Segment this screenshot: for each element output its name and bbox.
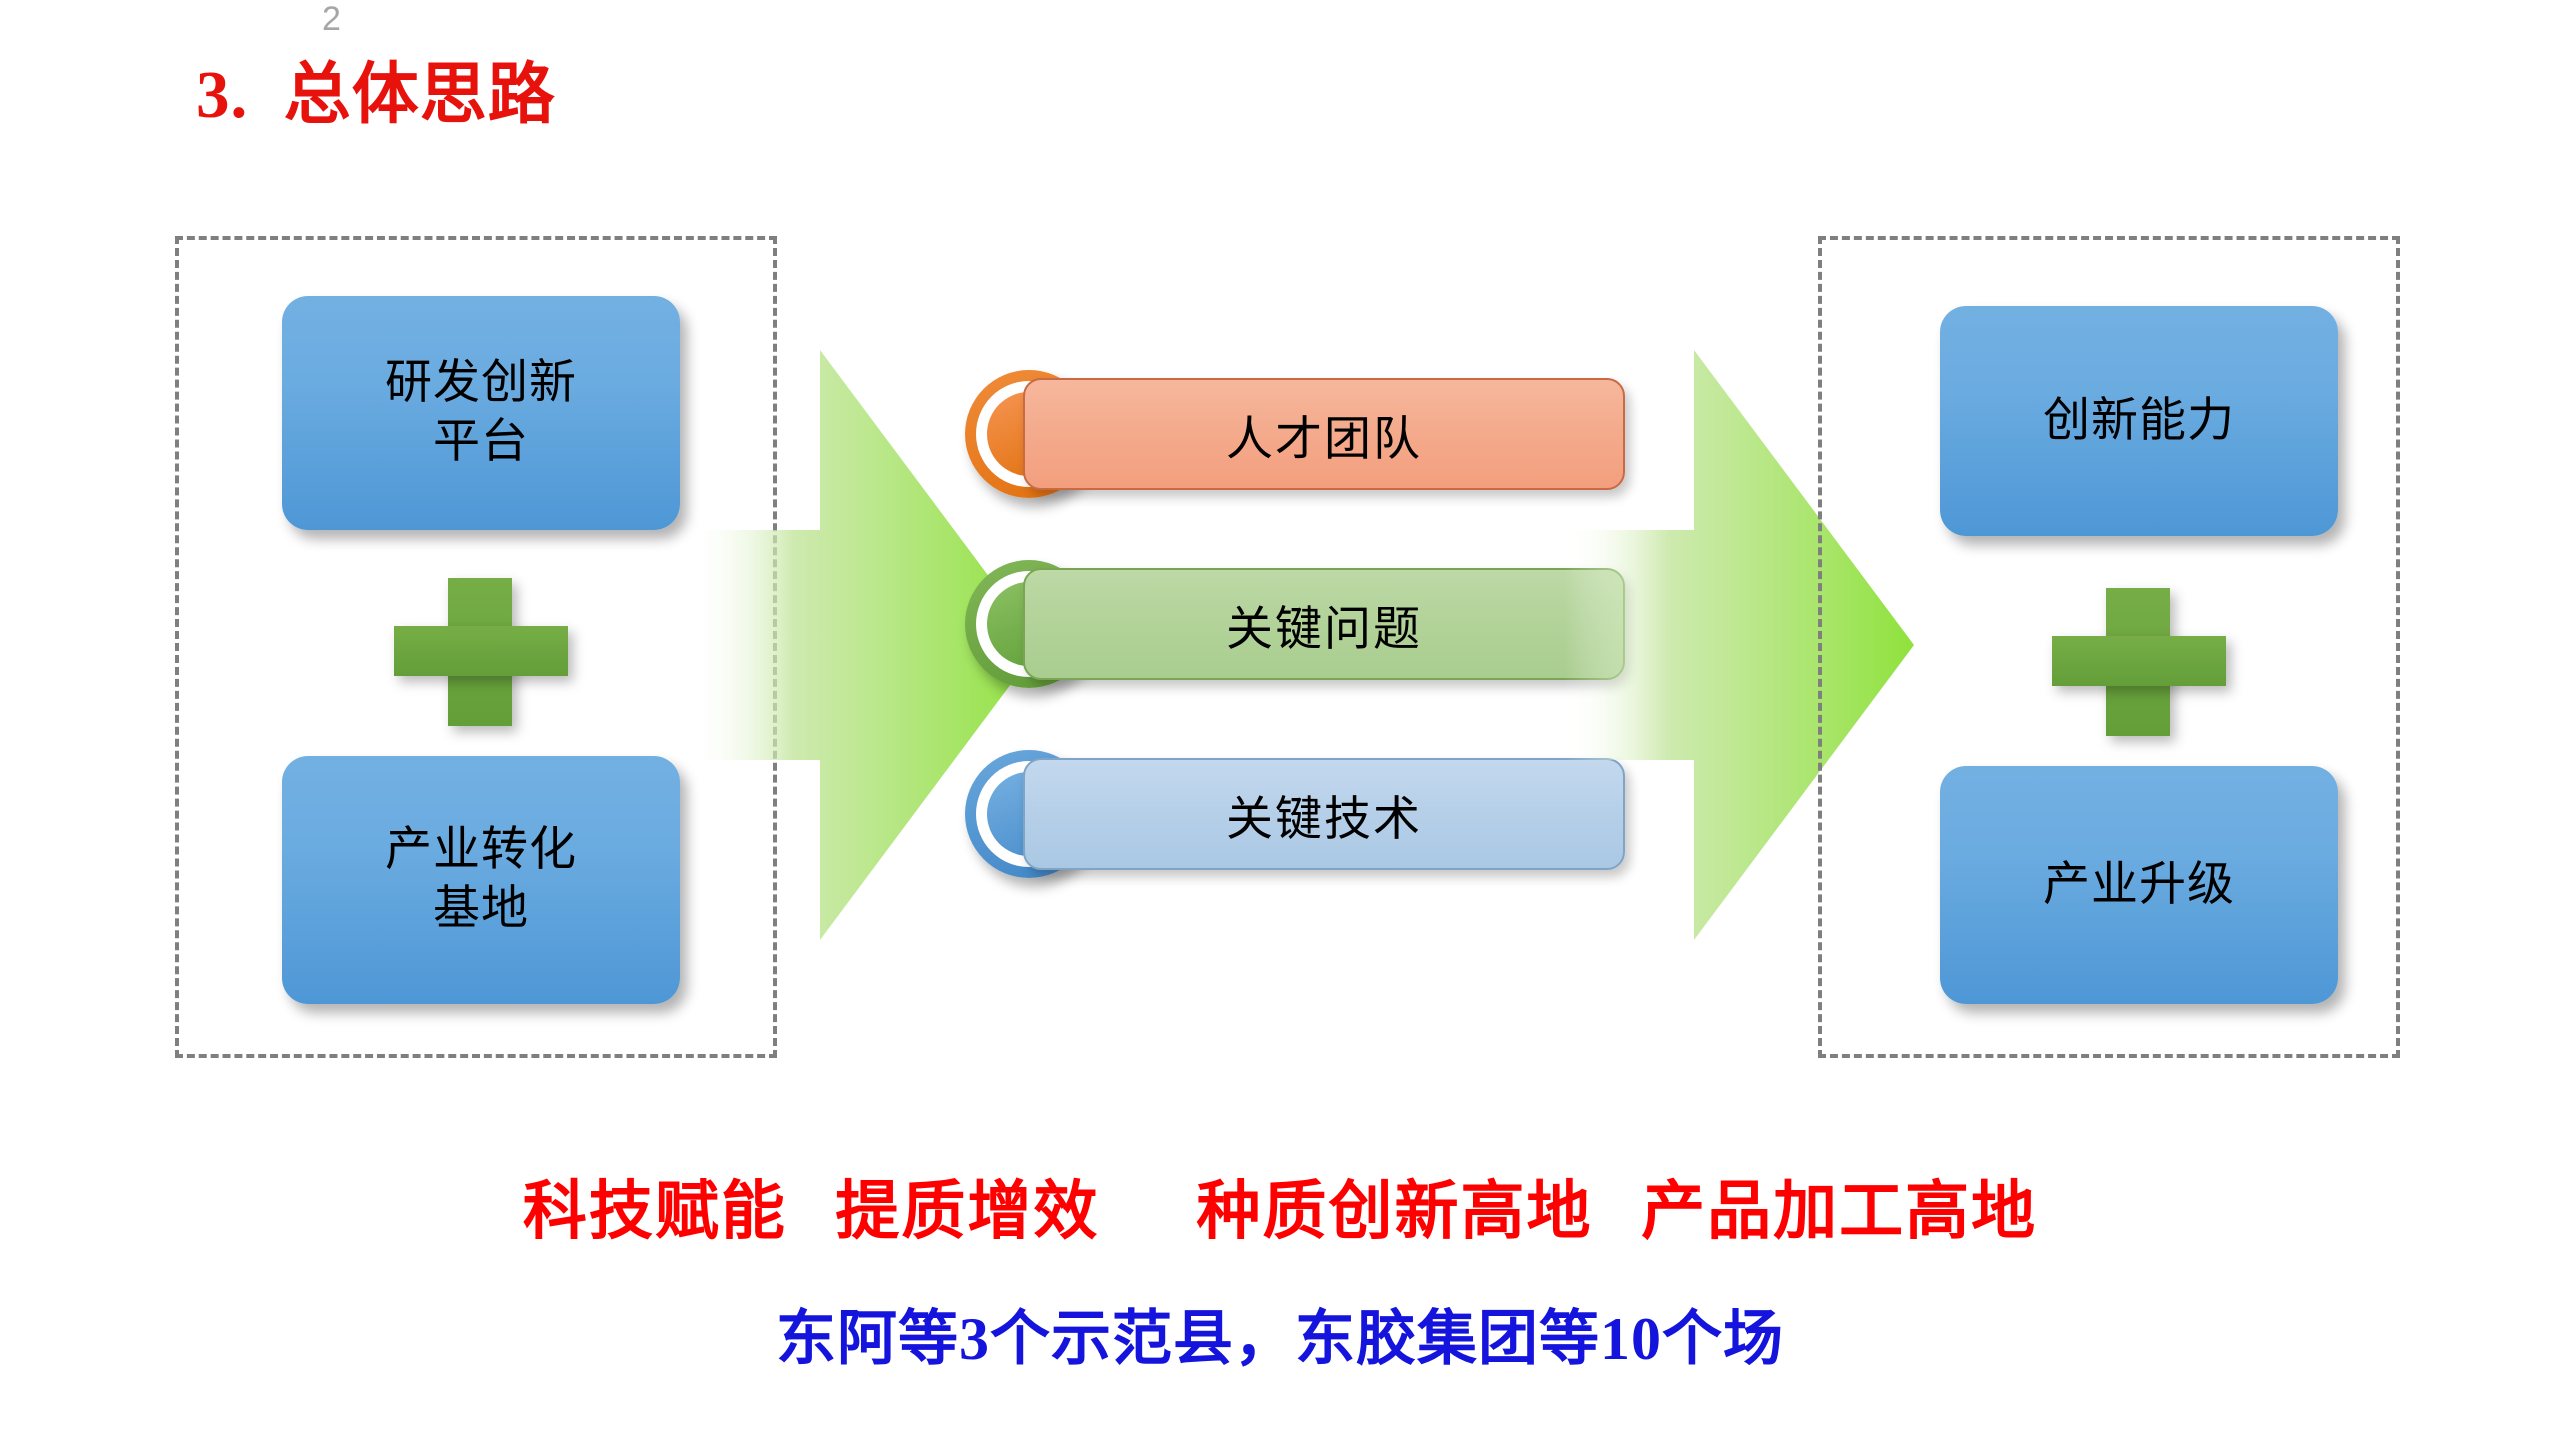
plus-horizontal-bar xyxy=(394,626,568,676)
center-item-key-problems[interactable]: 关键问题 xyxy=(965,568,1625,703)
left-box-rd-platform[interactable]: 研发创新 平台 xyxy=(282,296,680,530)
plus-icon-left xyxy=(394,578,568,726)
left-box-industry-base[interactable]: 产业转化 基地 xyxy=(282,756,680,1004)
slide-canvas: 2 3. 总体思路 研发创新 平台 产业转化 基地 人才团 xyxy=(0,0,2560,1440)
caption-red: 科技赋能 提质增效 种质创新高地 产品加工高地 xyxy=(0,1160,2560,1252)
page-number: 2 xyxy=(322,2,341,36)
page-title: 3. 总体思路 xyxy=(196,58,556,133)
caption-blue: 东阿等3个示范县，东胶集团等10个场 xyxy=(0,1290,2560,1377)
right-box-industry-upgrade[interactable]: 产业升级 xyxy=(1940,766,2338,1004)
center-item-label: 关键问题 xyxy=(1023,568,1625,680)
plus-icon-right xyxy=(2052,588,2226,736)
plus-horizontal-bar xyxy=(2052,636,2226,686)
right-box-innovation-capacity[interactable]: 创新能力 xyxy=(1940,306,2338,536)
center-item-key-technology[interactable]: 关键技术 xyxy=(965,758,1625,893)
center-item-label: 关键技术 xyxy=(1023,758,1625,870)
center-item-label: 人才团队 xyxy=(1023,378,1625,490)
center-item-talent-team[interactable]: 人才团队 xyxy=(965,378,1625,513)
